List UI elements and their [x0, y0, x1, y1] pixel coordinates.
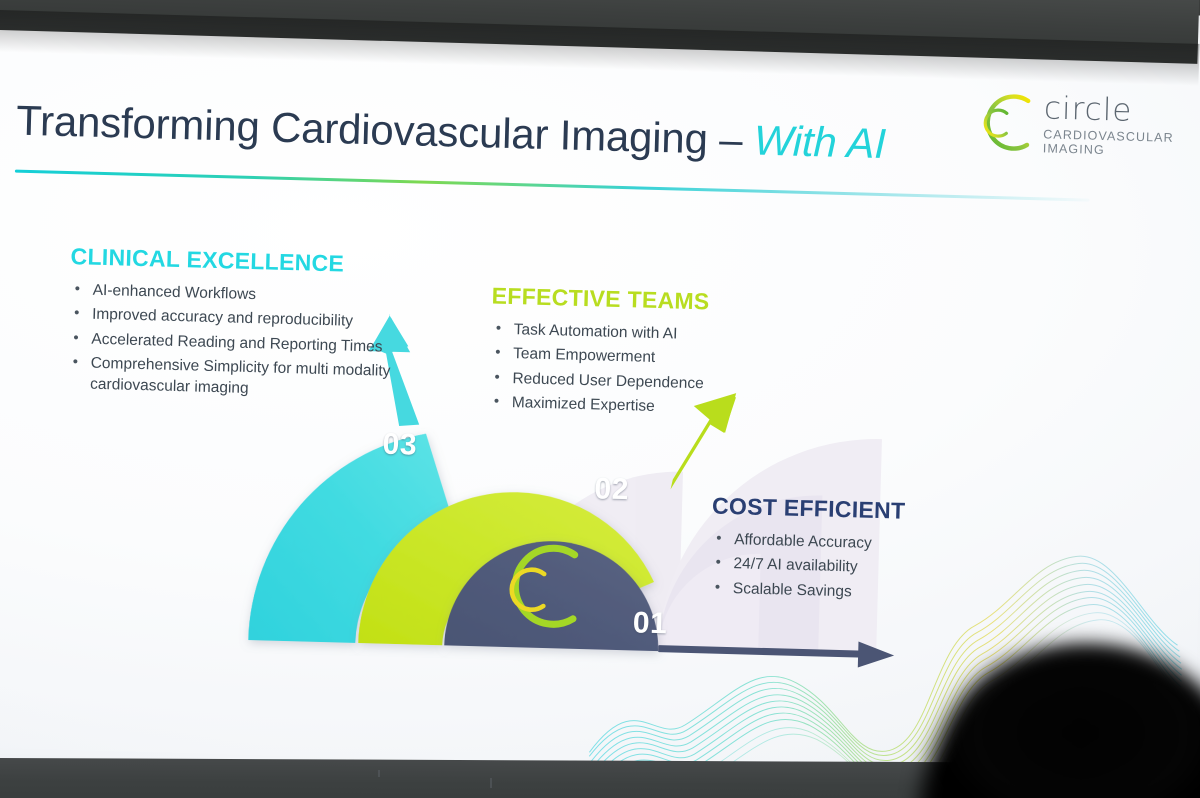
- step-number-03: 03: [382, 428, 417, 463]
- frame-speck: [378, 770, 380, 777]
- section-clinical-excellence: CLINICAL EXCELLENCE AI-enhanced Workflow…: [67, 243, 491, 410]
- bullet-list-clinical: AI-enhanced Workflows Improved accuracy …: [67, 280, 490, 406]
- list-item-line2: cardiovascular imaging: [90, 374, 487, 405]
- circle-logo-icon: [979, 90, 1043, 156]
- page-title-accent: With AI: [753, 117, 886, 168]
- step-number-02: 02: [594, 472, 629, 507]
- brand-logo-text: circle CARDIOVASCULAR IMAGING: [1043, 93, 1175, 159]
- brand-tagline: CARDIOVASCULAR IMAGING: [1043, 127, 1174, 159]
- frame-speck: [490, 778, 492, 788]
- section-heading-clinical: CLINICAL EXCELLENCE: [70, 243, 491, 281]
- title-divider: [15, 170, 1090, 202]
- list-item: Comprehensive Simplicity for multi modal…: [67, 353, 488, 405]
- section-heading-cost: COST EFFICIENT: [712, 493, 1033, 529]
- bullet-list-teams: Task Automation with AI Team Empowerment…: [489, 319, 851, 423]
- section-effective-teams: EFFECTIVE TEAMS Task Automation with AI …: [488, 283, 852, 428]
- page-title-main: Transforming Cardiovascular Imaging –: [16, 97, 755, 164]
- list-item: Maximized Expertise: [489, 393, 849, 423]
- photo-of-presentation-slide: Transforming Cardiovascular Imaging – Wi…: [0, 0, 1200, 798]
- page-title: Transforming Cardiovascular Imaging – Wi…: [16, 97, 887, 169]
- section-heading-teams: EFFECTIVE TEAMS: [491, 283, 852, 320]
- brand-name: circle: [1044, 93, 1175, 128]
- brand-logo: circle CARDIOVASCULAR IMAGING: [970, 85, 1187, 169]
